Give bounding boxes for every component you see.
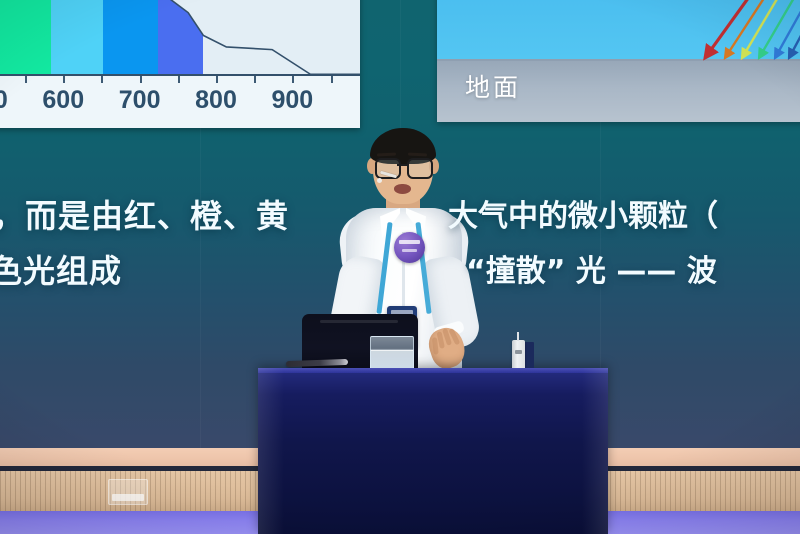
spectrum-band-blue: [103, 0, 158, 76]
caption-left-line-2: 色光组成: [0, 246, 122, 292]
presenter-table: [258, 368, 608, 534]
round-sticker-badge: [394, 232, 425, 263]
eyeglass-bridge: [397, 164, 409, 166]
spectrum-band-none: [203, 0, 360, 76]
water-glass: [370, 336, 414, 372]
presentation-clicker: [512, 340, 525, 370]
spectrum-band-indigo: [158, 0, 204, 76]
x-tick-label-900: 900: [272, 84, 314, 116]
eyeglass-lens-right: [407, 158, 433, 179]
x-tick-label-600: 600: [42, 84, 84, 116]
atmosphere-scattering-diagram: 地面: [437, 0, 800, 122]
x-tick-950: [331, 76, 333, 83]
wall-access-panel: [108, 479, 148, 505]
x-tick-850: [254, 76, 256, 83]
chart-x-tick-labels: 500600700800900: [0, 84, 360, 124]
x-tick-900: [292, 76, 294, 83]
x-tick-550: [25, 76, 27, 83]
caption-left-line-1: ，而是由红、橙、黄: [0, 191, 289, 237]
x-tick-750: [178, 76, 180, 83]
x-tick-700: [140, 76, 142, 83]
spectrum-band-cyan: [51, 0, 103, 76]
ground-label: 地面: [465, 68, 521, 104]
chart-plot-area: [0, 0, 360, 76]
x-tick-label-700: 700: [119, 84, 161, 116]
x-tick-label-800: 800: [195, 84, 237, 116]
mouth: [394, 184, 411, 194]
x-tick-650: [101, 76, 103, 83]
x-tick-800: [216, 76, 218, 83]
tablecloth-fold-left: [258, 368, 284, 534]
sun-ray-2: [742, 0, 793, 58]
caption-right-line-2: “撞散” 光 —— 波: [466, 246, 717, 290]
x-tick-label-500: 500: [0, 84, 8, 116]
stage-scene: 500600700800900 地面: [0, 0, 800, 534]
x-tick-600: [63, 76, 65, 83]
caption-right-line-1: 大气中的微小颗粒（: [448, 191, 718, 235]
tablecloth-fold-right: [582, 368, 608, 534]
spectral-irradiance-chart: 500600700800900: [0, 0, 360, 128]
microphone-capsule-icon: [377, 178, 382, 183]
clicker-shadow: [524, 342, 534, 370]
spectrum-band-spring-green: [0, 0, 51, 76]
table-top-edge: [258, 368, 608, 373]
